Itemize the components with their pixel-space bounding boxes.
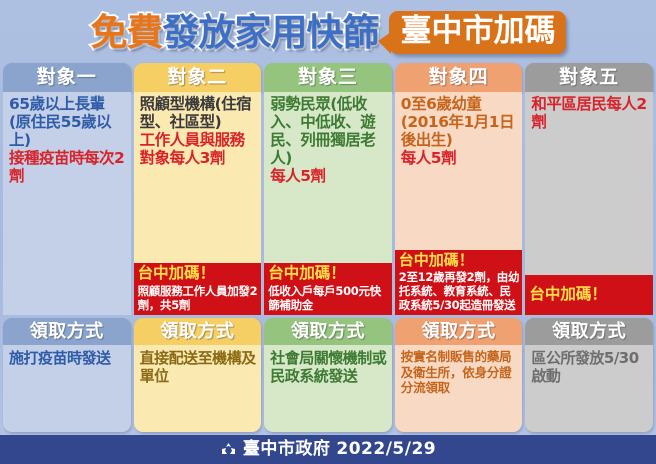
column-4-method-header: 領取方式 — [395, 318, 523, 345]
column-3-header-label: 對象三 — [298, 68, 358, 87]
column-1-body: 65歲以上長輩(原住民55歲以上) 接種疫苗時每次2劑 — [3, 92, 131, 315]
column-3-desc-plain: 弱勢民眾(低收入、中低收、遊民、列冊獨居老人) — [270, 96, 387, 168]
target-column-2: 對象二 照顧型機構(住宿型、社區型) 工作人員與服務對象每人3劑 台中加碼！ 照… — [134, 63, 262, 432]
column-4-bonus-box: 台中加碼！ 2至12歲再發2劑，由幼托系統、教育系統、民政系統5/30起造冊發送 — [395, 250, 523, 315]
column-2-method-header-label: 領取方式 — [160, 323, 234, 341]
column-1-desc-plain: 65歲以上長輩(原住民55歲以上) — [9, 96, 126, 150]
column-4-bonus-title: 台中加碼！ — [399, 252, 520, 269]
column-3-method-header-label: 領取方式 — [291, 323, 365, 341]
column-3-body: 弱勢民眾(低收入、中低收、遊民、列冊獨居老人) 每人5劑 台中加碼！ 低收入戶每… — [264, 92, 392, 315]
column-3-header: 對象三 — [264, 63, 392, 92]
footer-date: 2022/5/29 — [336, 441, 436, 458]
column-2-bonus-body: 照顧服務工作人員加發2劑，共5劑 — [138, 284, 259, 312]
column-4-header-label: 對象四 — [429, 68, 489, 87]
target-column-3: 對象三 弱勢民眾(低收入、中低收、遊民、列冊獨居老人) 每人5劑 台中加碼！ 低… — [264, 63, 392, 432]
column-3-bonus-box: 台中加碼！ 低收入戶每戶500元快篩補助金 — [264, 263, 392, 315]
column-3-desc-highlight: 每人5劑 — [270, 168, 387, 186]
column-5-method-body: 區公所發放5/30啟動 — [525, 345, 653, 432]
column-5-desc-highlight: 和平區居民每人2劑 — [531, 96, 648, 132]
column-4-body: 0至6歲幼童(2016年1月1日後出生) 每人5劑 台中加碼！ 2至12歲再發2… — [395, 92, 523, 315]
column-5-header: 對象五 — [525, 63, 653, 92]
column-2-desc-highlight: 工作人員與服務對象每人3劑 — [140, 132, 257, 168]
column-2-header: 對象二 — [134, 63, 262, 92]
title-badge: 臺中市加碼 — [389, 11, 566, 54]
column-5-method-header: 領取方式 — [525, 318, 653, 345]
column-2-bonus-box: 台中加碼！ 照顧服務工作人員加發2劑，共5劑 — [134, 263, 262, 315]
column-5-header-label: 對象五 — [559, 68, 619, 87]
column-2-method-header: 領取方式 — [134, 318, 262, 345]
column-3-bonus-title: 台中加碼！ — [268, 265, 389, 283]
column-2-desc-plain: 照顧型機構(住宿型、社區型) — [140, 96, 257, 132]
target-columns: 對象一 65歲以上長輩(原住民55歲以上) 接種疫苗時每次2劑 領取方式 施打疫… — [3, 63, 653, 432]
column-2-description: 照顧型機構(住宿型、社區型) 工作人員與服務對象每人3劑 — [134, 92, 262, 168]
column-1-desc-highlight: 接種疫苗時每次2劑 — [9, 150, 126, 186]
column-2-header-label: 對象二 — [167, 68, 227, 87]
column-4-desc-plain: 0至6歲幼童(2016年1月1日後出生) — [401, 96, 518, 150]
column-4-header: 對象四 — [395, 63, 523, 92]
poster-title-row: 免費發放家用快篩 臺中市加碼 — [0, 6, 656, 58]
column-4-description: 0至6歲幼童(2016年1月1日後出生) 每人5劑 — [395, 92, 523, 168]
column-5-method-header-label: 領取方式 — [552, 323, 626, 341]
taichung-city-logo-icon — [220, 442, 237, 457]
column-1-description: 65歲以上長輩(原住民55歲以上) 接種疫苗時每次2劑 — [3, 92, 131, 186]
target-column-1: 對象一 65歲以上長輩(原住民55歲以上) 接種疫苗時每次2劑 領取方式 施打疫… — [3, 63, 131, 432]
infographic-poster: 免費發放家用快篩 臺中市加碼 對象一 65歲以上長輩(原住民55歲以上) 接種疫… — [0, 0, 656, 464]
target-column-4: 對象四 0至6歲幼童(2016年1月1日後出生) 每人5劑 台中加碼！ 2至12… — [395, 63, 523, 432]
column-1-method-header-label: 領取方式 — [30, 323, 104, 341]
poster-footer: 臺中市政府 2022/5/29 — [0, 435, 656, 464]
column-1-header-label: 對象一 — [37, 68, 97, 87]
column-5-body: 和平區居民每人2劑 台中加碼！ — [525, 92, 653, 315]
column-4-method-body: 按實名制販售的藥局及衛生所，依身分證分流領取 — [395, 345, 523, 432]
title-free-text: 免費 — [91, 11, 163, 54]
title-badge-label: 臺中市加碼 — [401, 16, 556, 47]
column-3-bonus-body: 低收入戶每戶500元快篩補助金 — [268, 284, 389, 312]
column-1-method-header: 領取方式 — [3, 318, 131, 345]
column-5-description: 和平區居民每人2劑 — [525, 92, 653, 132]
poster-title: 免費發放家用快篩 — [91, 14, 379, 51]
column-3-method-header: 領取方式 — [264, 318, 392, 345]
column-4-desc-highlight: 每人5劑 — [401, 150, 518, 168]
column-4-bonus-body: 2至12歲再發2劑，由幼托系統、教育系統、民政系統5/30起造冊發送 — [399, 270, 520, 312]
column-2-body: 照顧型機構(住宿型、社區型) 工作人員與服務對象每人3劑 台中加碼！ 照顧服務工… — [134, 92, 262, 315]
column-1-header: 對象一 — [3, 63, 131, 92]
column-3-method-body: 社會局關懷機制或民政系統發送 — [264, 345, 392, 432]
column-4-method-header-label: 領取方式 — [422, 323, 496, 341]
column-5-bonus-box: 台中加碼！ — [525, 275, 653, 315]
column-3-description: 弱勢民眾(低收入、中低收、遊民、列冊獨居老人) 每人5劑 — [264, 92, 392, 186]
title-main-text: 發放家用快篩 — [163, 11, 379, 54]
column-5-bonus-title: 台中加碼！ — [529, 286, 607, 304]
column-1-method-body: 施打疫苗時發送 — [3, 345, 131, 432]
target-column-5: 對象五 和平區居民每人2劑 台中加碼！ 領取方式 區公所發放5/30啟動 — [525, 63, 653, 432]
footer-organization: 臺中市政府 — [243, 441, 331, 458]
column-2-bonus-title: 台中加碼！ — [138, 265, 259, 283]
column-2-method-body: 直接配送至機構及單位 — [134, 345, 262, 432]
